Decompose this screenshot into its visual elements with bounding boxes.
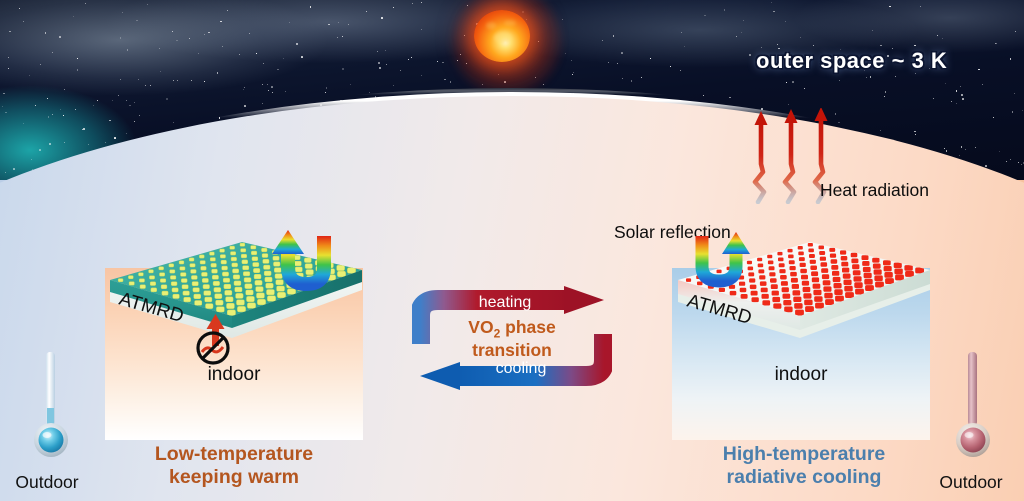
left-caption-line1: Low-temperature: [84, 443, 384, 466]
outdoor-label-right: Outdoor: [936, 472, 1006, 493]
heat-radiation-label: Heat radiation: [820, 180, 929, 201]
outdoor-label-left: Outdoor: [12, 472, 82, 493]
outdoor-thermometer-right: Outdoor: [938, 352, 1008, 483]
cooling-label: cooling: [428, 360, 614, 378]
right-caption-line2: radiative cooling: [654, 466, 954, 489]
left-panel-caption: Low-temperature keeping warm: [84, 443, 384, 489]
blocked-heat-emission-icon: [186, 308, 248, 370]
thermometer-cold-icon: [16, 352, 86, 478]
left-solar-reflection-arrow: [254, 228, 350, 302]
heating-label: heating: [412, 294, 598, 312]
thermometer-hot-icon: [938, 352, 1008, 478]
right-caption-line1: High-temperature: [654, 443, 954, 466]
outdoor-thermometer-left: Outdoor: [16, 352, 86, 483]
sun-icon: [474, 10, 530, 62]
right-solar-reflection-arrow: [678, 230, 774, 300]
figure-canvas: outer space ~ 3 K Heat radiation Solar r…: [0, 0, 1024, 501]
left-caption-line2: keeping warm: [84, 466, 384, 489]
outer-space-label: outer space ~ 3 K: [756, 48, 947, 74]
right-panel-caption: High-temperature radiative cooling: [654, 443, 954, 489]
